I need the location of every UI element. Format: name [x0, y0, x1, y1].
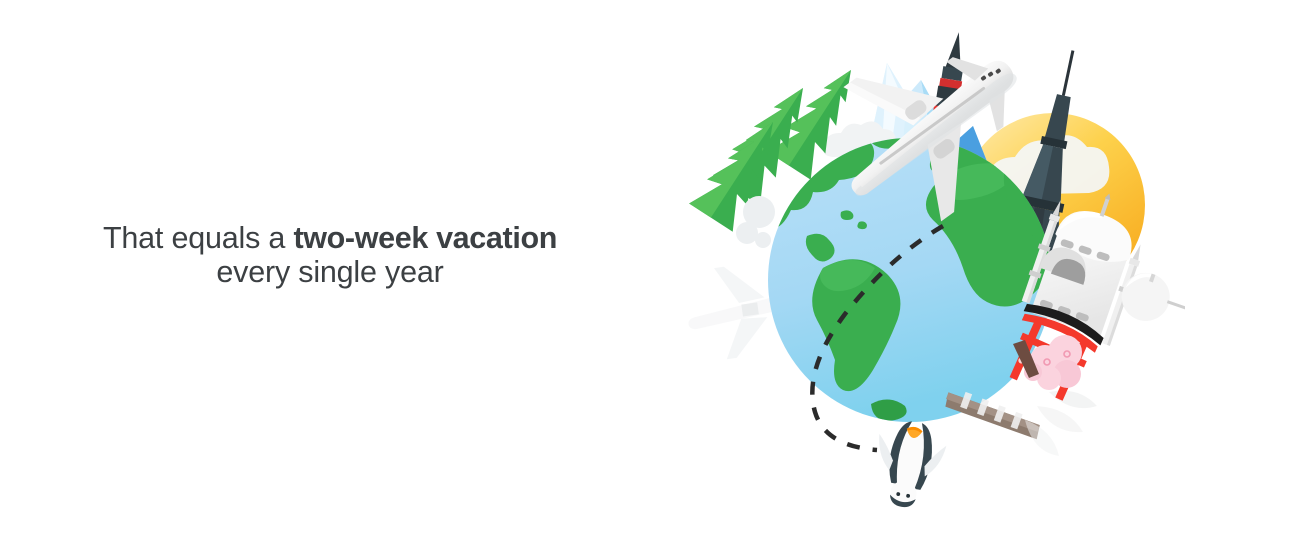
slide-root: That equals a two-week vacationevery sin…: [0, 0, 1300, 541]
caption-block: That equals a two-week vacationevery sin…: [60, 222, 600, 289]
penguin: [868, 416, 950, 513]
pier-fans: [1025, 391, 1097, 456]
headline-emphasis: two-week vacation: [293, 221, 557, 255]
illustration-canvas: [655, 0, 1185, 541]
headline-line2: every single year: [216, 255, 443, 289]
world-travel-globe-illustration: [655, 0, 1185, 541]
page-title: That equals a two-week vacationevery sin…: [60, 222, 600, 289]
headline-prefix: That equals a: [103, 221, 294, 255]
smoke-puffs: [736, 196, 775, 248]
